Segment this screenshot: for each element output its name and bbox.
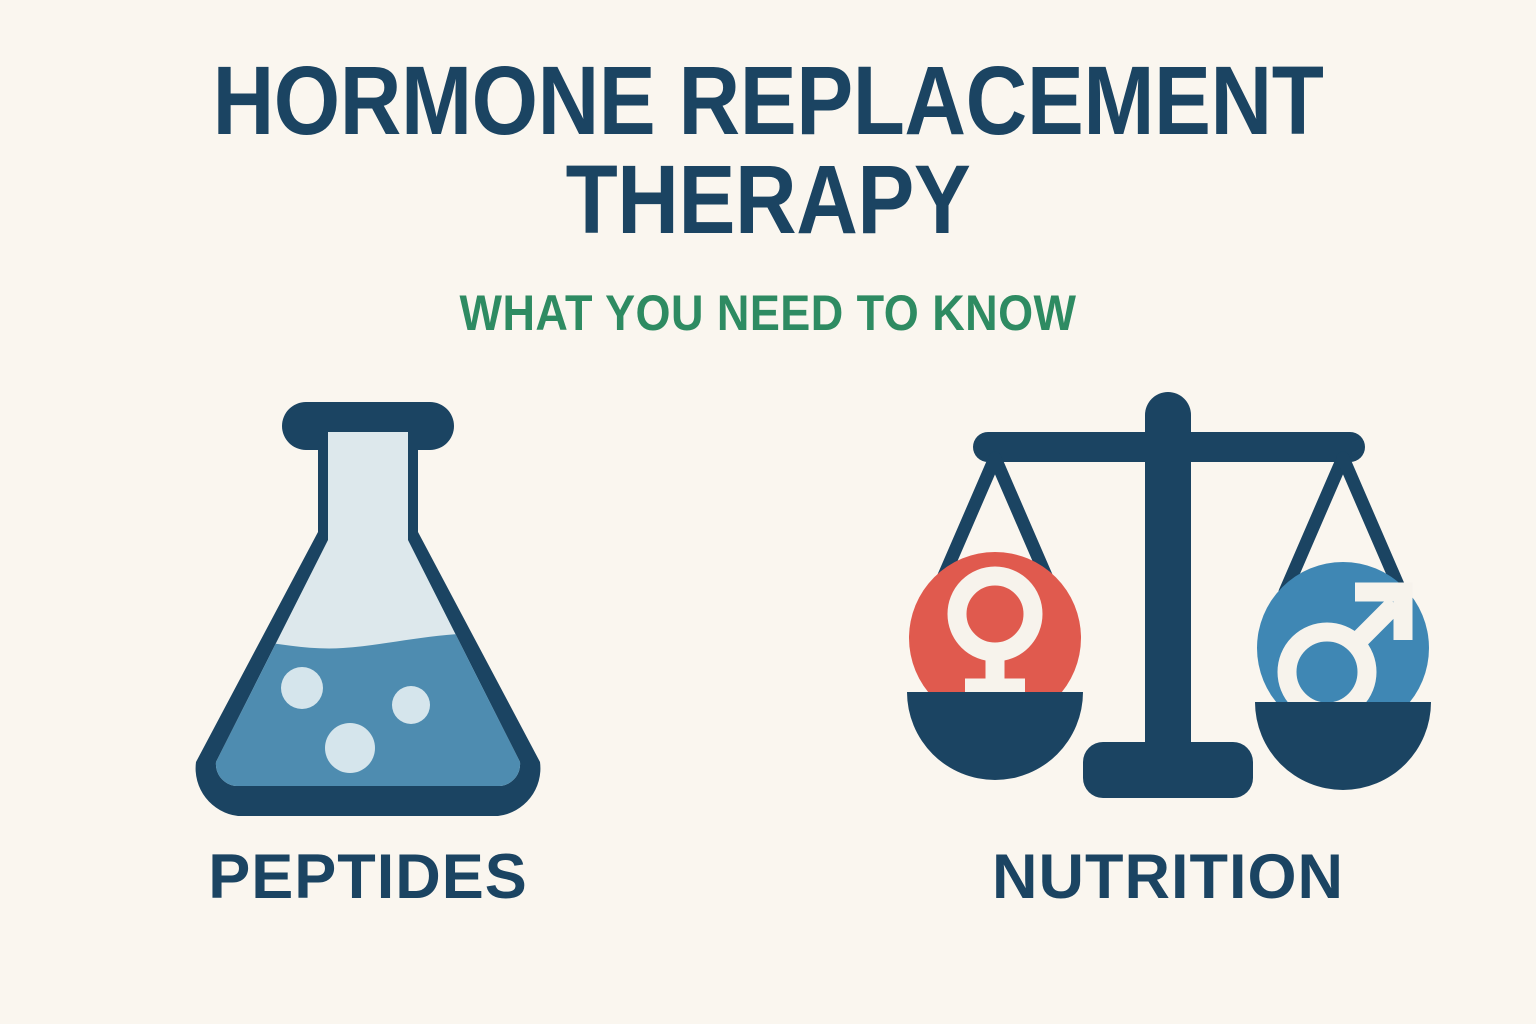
nutrition-icon-area: [848, 380, 1488, 830]
nutrition-label: NUTRITION: [848, 846, 1488, 909]
page-title: HORMONE REPLACEMENT THERAPY: [0, 52, 1536, 250]
scale-right-pan-group: [1255, 562, 1431, 790]
scale-right-pan: [1255, 702, 1431, 790]
peptides-label: PEPTIDES: [48, 846, 688, 909]
flask-interior: [168, 380, 568, 830]
flask-bubble: [281, 667, 323, 709]
scale-left-pan: [907, 692, 1083, 780]
scale-base: [1083, 742, 1253, 798]
title-line-1: HORMONE REPLACEMENT: [92, 52, 1444, 151]
flask-bubble: [392, 686, 430, 724]
infographic-poster: HORMONE REPLACEMENT THERAPY WHAT YOU NEE…: [0, 0, 1536, 1024]
title-line-2: THERAPY: [92, 151, 1444, 250]
flask-bubble: [325, 723, 375, 773]
scale-column: [1145, 420, 1191, 760]
peptides-icon-area: [48, 380, 688, 830]
panel-peptides: PEPTIDES: [48, 380, 688, 980]
balance-scale-icon: [903, 380, 1433, 810]
scale-crossbar: [973, 432, 1365, 462]
page-subtitle: WHAT YOU NEED TO KNOW: [77, 288, 1459, 338]
erlenmeyer-flask-icon: [168, 380, 568, 830]
panel-nutrition: NUTRITION: [848, 380, 1488, 980]
scale-left-pan-group: [907, 552, 1083, 780]
